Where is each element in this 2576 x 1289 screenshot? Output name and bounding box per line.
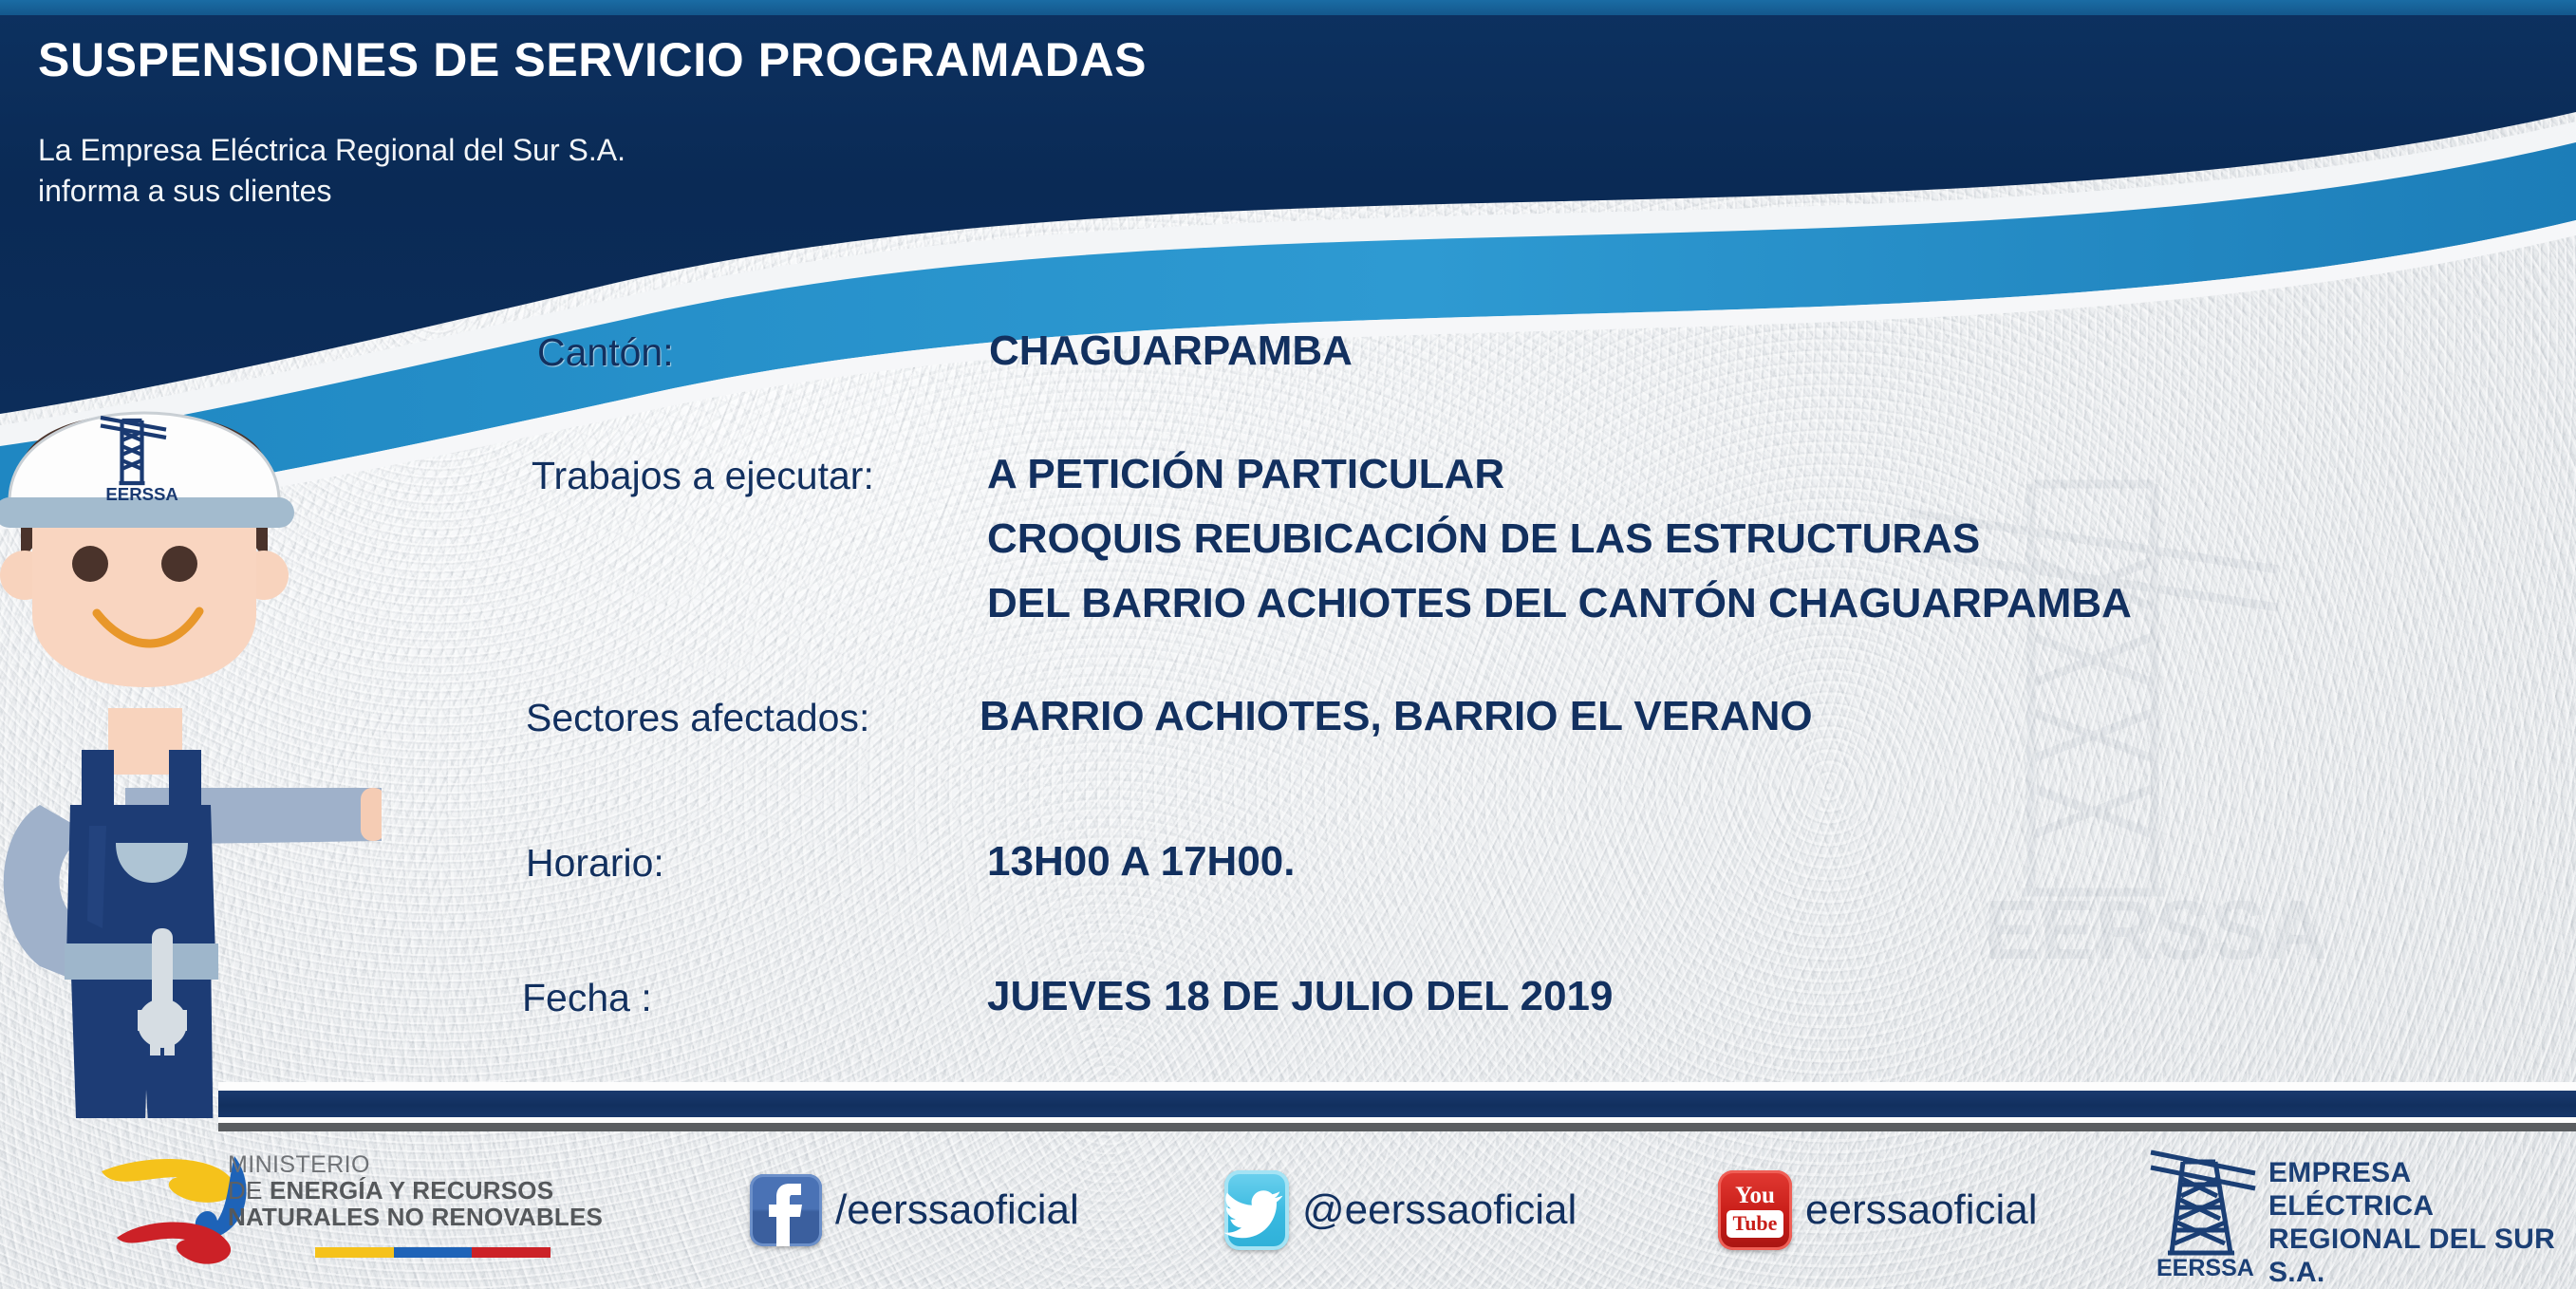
twitter-handle[interactable]: @eerssaoficial <box>1302 1186 1577 1234</box>
twitter-icon[interactable] <box>1224 1170 1289 1250</box>
social-facebook[interactable]: /eerssaoficial <box>750 1131 1079 1289</box>
value-trabajos-line-2: CROQUIS REUBICACIÓN DE LAS ESTRUCTURAS <box>987 515 1980 563</box>
tower-label: EERSSA <box>2156 1255 2254 1280</box>
divider-navy <box>218 1091 2576 1117</box>
ecuador-flag-bars <box>315 1247 551 1258</box>
poster-root: EERSSA SUSPENSIONES DE SERVICIO PROGRAMA… <box>0 0 2576 1289</box>
youtube-icon[interactable]: You Tube <box>1718 1170 1792 1250</box>
eerssa-company-logo: EERSSA EMPRESA ELÉCTRICA REGIONAL DEL SU… <box>2143 1139 2576 1283</box>
value-sectores: BARRIO ACHIOTES, BARRIO EL VERANO <box>980 693 1813 740</box>
social-twitter[interactable]: @eerssaoficial <box>1224 1131 1577 1289</box>
footer: MINISTERIO DE ENERGÍA Y RECURSOS NATURAL… <box>0 1131 2576 1289</box>
value-horario: 13H00 A 17H00. <box>987 838 1296 886</box>
value-trabajos-line-3: DEL BARRIO ACHIOTES DEL CANTÓN CHAGUARPA… <box>987 580 2132 627</box>
transmission-tower-icon: EERSSA <box>2143 1141 2263 1280</box>
value-trabajos-line-1: A PETICIÓN PARTICULAR <box>987 451 1504 498</box>
ministry-line-2-bold: ENERGÍA Y RECURSOS <box>270 1176 553 1205</box>
label-canton: Cantón: <box>537 330 674 375</box>
youtube-tube-text: Tube <box>1727 1210 1784 1238</box>
flag-bar-blue <box>394 1247 473 1258</box>
label-trabajos: Trabajos a ejecutar: <box>532 454 874 498</box>
company-line-1: EMPRESA ELÉCTRICA <box>2268 1156 2576 1223</box>
label-horario: Horario: <box>526 841 664 886</box>
label-sectores: Sectores afectados: <box>526 696 869 740</box>
footer-divider-bar <box>218 1082 2576 1131</box>
label-fecha: Fecha : <box>522 976 652 1020</box>
ministry-line-2-light: DE <box>228 1176 270 1205</box>
value-fecha: JUEVES 18 DE JULIO DEL 2019 <box>987 973 1613 1020</box>
divider-gray-shadow <box>218 1123 2576 1131</box>
youtube-handle[interactable]: eerssaoficial <box>1805 1186 2038 1234</box>
flag-bar-yellow <box>315 1247 394 1258</box>
value-canton: CHAGUARPAMBA <box>989 327 1353 375</box>
social-youtube[interactable]: You Tube eerssaoficial <box>1718 1131 2038 1289</box>
facebook-icon[interactable] <box>750 1174 822 1246</box>
facebook-handle[interactable]: /eerssaoficial <box>835 1186 1079 1234</box>
company-line-2: REGIONAL DEL SUR S.A. <box>2268 1223 2576 1289</box>
youtube-you-text: You <box>1735 1184 1775 1207</box>
ministry-line-3: NATURALES NO RENOVABLES <box>228 1205 603 1231</box>
ministry-line-1: MINISTERIO <box>228 1152 603 1178</box>
company-name-block: EMPRESA ELÉCTRICA REGIONAL DEL SUR S.A. … <box>2268 1156 2576 1289</box>
ministry-line-2: DE ENERGÍA Y RECURSOS <box>228 1178 603 1205</box>
divider-white-top <box>218 1082 2576 1091</box>
ministry-name: MINISTERIO DE ENERGÍA Y RECURSOS NATURAL… <box>228 1152 603 1230</box>
flag-bar-red <box>472 1247 551 1258</box>
